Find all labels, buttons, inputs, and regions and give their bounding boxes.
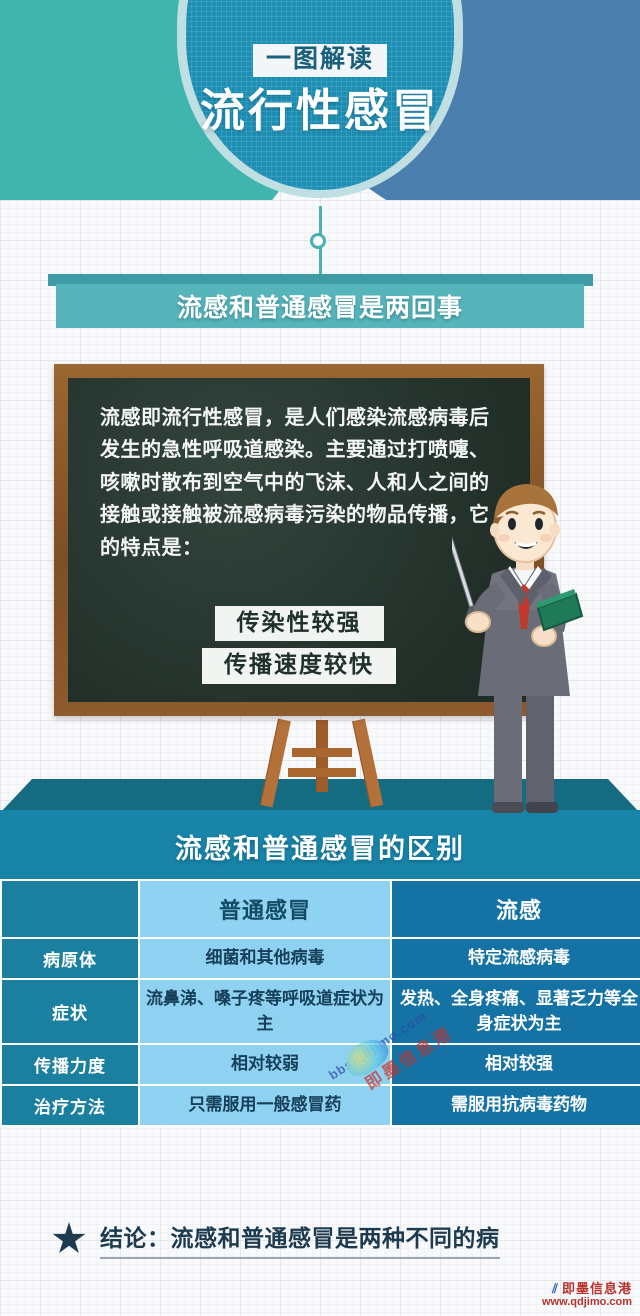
cell-treatment-common: 只需服用一般感冒药: [140, 1086, 390, 1125]
banner-hanger-line-bottom: [319, 248, 322, 274]
column-header-common-cold: 普通感冒: [140, 881, 390, 937]
teacher-svg: [452, 466, 602, 818]
column-header-influenza: 流感: [392, 881, 640, 937]
section-banner-label: 流感和普通感冒是两回事: [177, 288, 463, 324]
banner-hanger-line-top: [319, 206, 322, 234]
comparison-title: 流感和普通感冒的区别: [0, 813, 640, 879]
star-icon: [52, 1222, 86, 1256]
teacher-illustration: [452, 466, 602, 818]
blackboard-paragraph: 流感即流行性感冒，是人们感染流感病毒后发生的急性呼吸道感染。主要通过打喷嚏、咳嗽…: [100, 402, 508, 564]
table-row: 传播力度 相对较弱 相对较强: [2, 1045, 640, 1084]
corner-watermark-brand: ⫽即墨信息港: [542, 1282, 632, 1296]
section-banner: 流感和普通感冒是两回事: [56, 284, 584, 328]
easel-leg-left: [260, 719, 291, 808]
cell-transmissibility-common: 相对较弱: [140, 1045, 390, 1084]
cell-symptoms-flu: 发热、全身疼痛、显著乏力等全身症状为主: [392, 980, 640, 1043]
corner-watermark-logo-icon: ⫽: [552, 1281, 559, 1296]
page-title: 流行性感冒: [200, 88, 440, 133]
corner-watermark-url: www.qdjimo.com: [542, 1296, 632, 1308]
hero-header: 一图解读 流行性感冒: [0, 0, 640, 200]
cell-treatment-flu: 需服用抗病毒药物: [392, 1086, 640, 1125]
conclusion-row: 结论：流感和普通感冒是两种不同的病: [0, 1213, 640, 1265]
corner-watermark: ⫽即墨信息港 www.qdjimo.com: [542, 1282, 632, 1308]
comparison-title-label: 流感和普通感冒的区别: [175, 827, 465, 866]
row-label-pathogen: 病原体: [2, 939, 138, 978]
table-header-row: 普通感冒 流感: [2, 881, 640, 937]
row-label-transmissibility: 传播力度: [2, 1045, 138, 1084]
cell-symptoms-common: 流鼻涕、嗓子疼等呼吸道症状为主: [140, 980, 390, 1043]
conclusion-text: 结论：流感和普通感冒是两种不同的病: [100, 1219, 500, 1259]
easel-rung-lower: [288, 768, 356, 777]
hero-kicker: 一图解读: [253, 44, 387, 77]
table-corner-cell: [2, 881, 138, 937]
hero-text-group: 一图解读 流行性感冒: [0, 0, 640, 200]
table-row: 治疗方法 只需服用一般感冒药 需服用抗病毒药物: [2, 1086, 640, 1125]
table-row: 症状 流鼻涕、嗓子疼等呼吸道症状为主 发热、全身疼痛、显著乏力等全身症状为主: [2, 980, 640, 1043]
corner-watermark-brand-label: 即墨信息港: [562, 1281, 632, 1296]
comparison-table: 普通感冒 流感 病原体 细菌和其他病毒 特定流感病毒 症状 流鼻涕、嗓子疼等呼吸…: [0, 879, 640, 1127]
banner-hanger-ring-icon: [310, 233, 326, 249]
highlight-chip-2: 传播速度较快: [202, 648, 396, 683]
cell-transmissibility-flu: 相对较强: [392, 1045, 640, 1084]
easel-leg-right: [352, 719, 383, 808]
row-label-treatment: 治疗方法: [2, 1086, 138, 1125]
comparison-section: 流感和普通感冒的区别 普通感冒 流感 病原体 细菌和其他病毒 特定流感病毒 症状…: [0, 813, 640, 1127]
easel-rung-upper: [292, 748, 352, 757]
table-row: 病原体 细菌和其他病毒 特定流感病毒: [2, 939, 640, 978]
cell-pathogen-flu: 特定流感病毒: [392, 939, 640, 978]
cell-pathogen-common: 细菌和其他病毒: [140, 939, 390, 978]
row-label-symptoms: 症状: [2, 980, 138, 1043]
highlight-chip-1: 传染性较强: [215, 606, 384, 641]
